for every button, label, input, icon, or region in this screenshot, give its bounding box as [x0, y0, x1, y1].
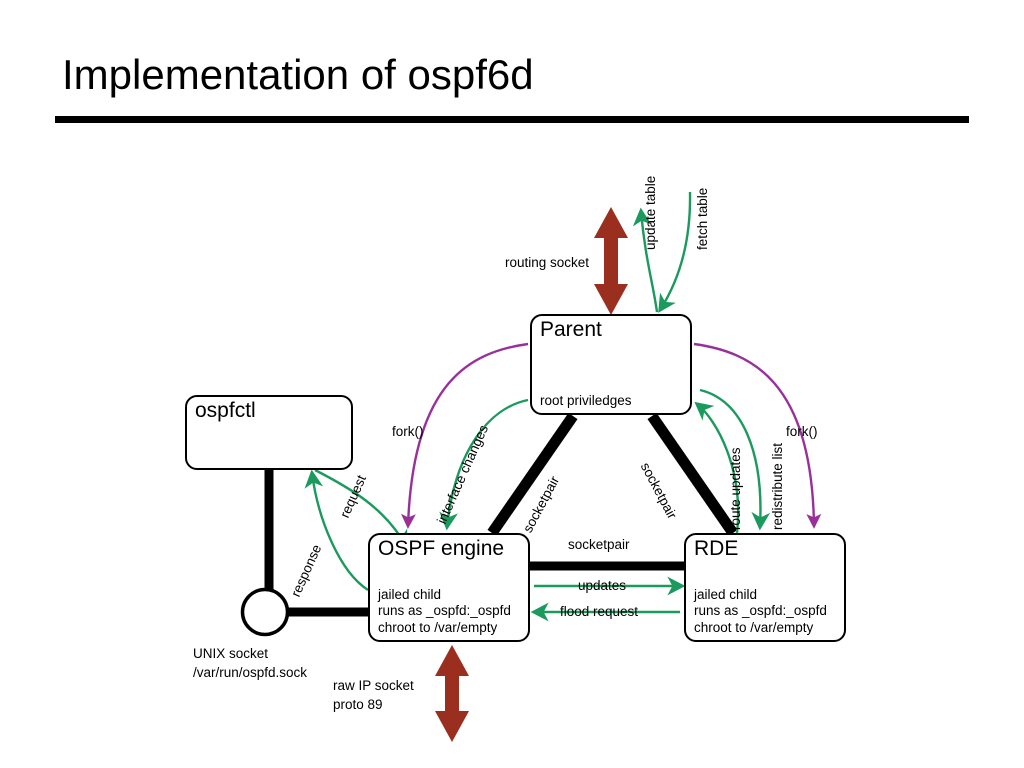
- node-rde-line-2: runs as _ospfd:_ospfd: [694, 603, 827, 620]
- slide-canvas: Implementation of ospf6d: [0, 0, 1024, 768]
- node-ospf-engine[interactable]: OSPF engine jailed child runs as _ospfd:…: [368, 533, 530, 642]
- node-rde-title: RDE: [694, 536, 738, 562]
- arrow-routing-socket: [594, 207, 628, 315]
- node-rde[interactable]: RDE jailed child runs as _ospfd:_ospfd c…: [684, 533, 846, 642]
- node-ospfctl[interactable]: ospfctl: [185, 395, 353, 470]
- node-ospf-engine-line-2: runs as _ospfd:_ospfd: [378, 603, 511, 620]
- label-unix-socket-line-1: UNIX socket: [193, 644, 307, 663]
- label-socketpair-engine-rde: socketpair: [568, 537, 630, 553]
- node-ospf-engine-line-3: chroot to /var/empty: [378, 620, 511, 637]
- arrow-raw-ip-socket: [435, 645, 469, 742]
- label-raw-ip-line-1: raw IP socket: [333, 676, 414, 695]
- label-raw-ip-socket: raw IP socket proto 89: [333, 676, 414, 714]
- label-fork-right: fork(): [786, 424, 818, 440]
- node-ospfctl-title: ospfctl: [195, 398, 256, 424]
- arrow-fetch-table: [660, 192, 690, 310]
- node-rde-line-1: jailed child: [694, 587, 827, 604]
- label-route-updates: route updates: [728, 447, 744, 530]
- node-parent-details: root priviledges: [540, 393, 632, 410]
- node-ospf-engine-title: OSPF engine: [378, 536, 504, 562]
- label-unix-socket: UNIX socket /var/run/ospfd.sock: [193, 644, 307, 682]
- label-flood-request: flood request: [560, 604, 638, 620]
- label-fork-left: fork(): [392, 424, 424, 440]
- label-updates: updates: [578, 578, 626, 594]
- label-update-table: update table: [643, 176, 659, 250]
- label-routing-socket: routing socket: [505, 255, 589, 271]
- node-rde-details: jailed child runs as _ospfd:_ospfd chroo…: [694, 587, 827, 637]
- node-rde-line-3: chroot to /var/empty: [694, 620, 827, 637]
- label-fetch-table: fetch table: [695, 188, 711, 250]
- node-ospf-engine-line-1: jailed child: [378, 587, 511, 604]
- diagram-connectors: [0, 0, 1024, 768]
- label-unix-socket-line-2: /var/run/ospfd.sock: [193, 663, 307, 682]
- node-parent-line-1: root priviledges: [540, 393, 632, 410]
- node-parent[interactable]: Parent root priviledges: [530, 314, 692, 415]
- label-redistribute-list: redistribute list: [770, 443, 786, 530]
- node-ospf-engine-details: jailed child runs as _ospfd:_ospfd chroo…: [378, 587, 511, 637]
- label-raw-ip-line-2: proto 89: [333, 695, 414, 714]
- unix-socket-circle: [243, 590, 288, 635]
- node-parent-title: Parent: [540, 317, 602, 343]
